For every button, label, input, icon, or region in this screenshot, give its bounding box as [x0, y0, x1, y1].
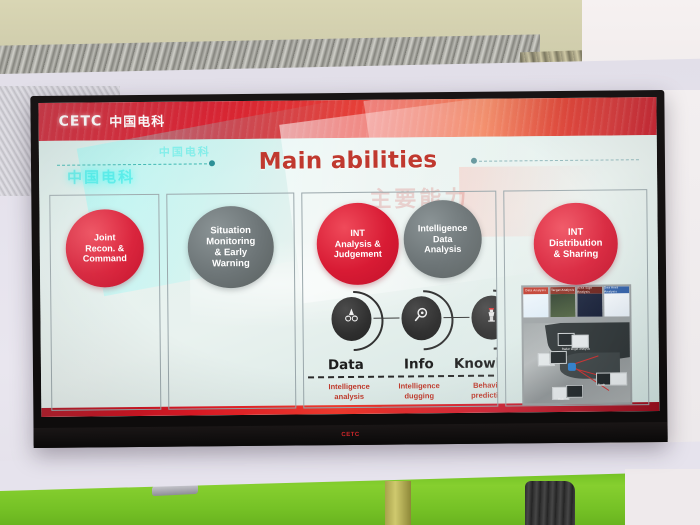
map-hub-node: [568, 362, 576, 370]
dashboard-card[interactable]: Data Analysis: [523, 287, 548, 317]
funnel-icon: [341, 306, 361, 331]
bubble-line: Intelligence: [418, 223, 468, 234]
knowledge-flow-diagram: [303, 285, 497, 357]
cetc-logo-en: CETC: [58, 113, 102, 129]
flow-connector-1: [373, 317, 399, 319]
slide-title: Main abilities: [39, 145, 657, 177]
floor-tire-object: [525, 481, 575, 525]
bubble-line: & Early: [206, 247, 255, 258]
dashboard-card[interactable]: Target Analysis: [550, 286, 575, 316]
bubble-line: Analysis: [418, 244, 468, 255]
bubble-line: Distribution: [549, 238, 602, 250]
sublabel-line: prediction: [458, 390, 498, 400]
dashboard-card[interactable]: Sea Area Analysis: [604, 286, 629, 316]
panel-int-analysis-bubbles: INT Analysis & Judgement Intelligence Da…: [302, 192, 496, 285]
slide-header-band: CETC 中国电科: [38, 97, 656, 141]
dashboard-card[interactable]: Area Sign Analysis: [577, 286, 602, 316]
monitor-screen: CETC 中国电科 中国电科 中国电科 主要能力 Main abilities: [38, 97, 659, 417]
bubble-line: & Sharing: [549, 249, 602, 261]
slide-body: 中国电科 中国电科 主要能力 Main abilities Joint Reco…: [39, 135, 660, 417]
bubble-line: Recon. &: [83, 243, 127, 254]
bubble-joint-recon-command[interactable]: Joint Recon. & Command: [65, 209, 144, 288]
bubble-situation-monitoring[interactable]: Situation Monitoring & Early Warning: [187, 206, 274, 289]
sublabel-line: Behavior: [458, 381, 498, 391]
map-callout: [566, 384, 583, 397]
bubble-int-distribution-sharing[interactable]: INT Distribution & Sharing: [533, 202, 618, 284]
header-sheen: [364, 97, 657, 141]
sublabel-line: dugging: [388, 391, 450, 401]
bubble-line: Judgement: [334, 249, 382, 260]
insight-figure-icon: [481, 305, 498, 330]
image-tactical-situation-map: ⊤⚲ ⚑ ⊤ ⊤⚙ ⚑⊕ ⚑⚑ ⚲⚑ ⚑⊕ ⊕⚑ ⚲ ⚑⚑ ⚑ ⚑⚑ ⚑: [231, 288, 232, 408]
flow-node-data[interactable]: [331, 296, 371, 340]
ability-panels: Joint Recon. & Command: [49, 189, 649, 411]
flow-label-data: Data: [328, 357, 364, 373]
flow-label-knowledge: Knowledge: [454, 355, 498, 372]
cetc-logo: CETC 中国电科: [58, 111, 165, 131]
bubble-int-analysis-judgement[interactable]: INT Analysis & Judgement: [316, 203, 399, 286]
magnifier-icon: [411, 305, 431, 330]
dashboard-card-body: [550, 293, 575, 316]
bubble-line: Joint: [83, 232, 127, 243]
map-label-main: Radar target analysis: [562, 346, 590, 350]
dashboard-thumbnail-row: Data Analysis Target Analysis Area Sign …: [521, 284, 632, 319]
map-label-hub: Hub: [558, 397, 564, 401]
sublabel-line: Intelligence: [318, 382, 380, 392]
flow-connector-2: [443, 316, 469, 318]
monitor-brand-logo: CETC: [341, 432, 359, 438]
flow-label-info: Info: [404, 356, 434, 372]
flow-labels: Data Info Knowledge: [304, 356, 497, 375]
image-satellite-earth-surveillance: [105, 287, 106, 397]
cetc-logo-cn: 中国电科: [109, 111, 165, 131]
map-callout: [550, 350, 567, 363]
sublabel-intelligence-analysis: Intelligence analysis: [318, 382, 380, 402]
map-water-3: [231, 370, 232, 405]
bubble-line: Data: [418, 234, 468, 245]
satellite-map: Radar target analysis Node Hub: [523, 322, 630, 403]
dashboard-card-body: [523, 294, 548, 317]
dashboard-card-body: [604, 293, 629, 316]
map-label-node: Node: [598, 382, 605, 386]
bubble-line: Command: [83, 253, 127, 264]
bubble-line: Monitoring: [206, 236, 255, 247]
floor-post: [385, 481, 411, 525]
bubble-line: Warning: [206, 258, 255, 269]
bubble-line: INT: [549, 227, 602, 239]
sublabel-behavior-prediction: Behavior prediction: [458, 381, 498, 401]
panel-int-distribution[interactable]: INT Distribution & Sharing Data Analysis: [503, 189, 649, 406]
flow-node-info[interactable]: [401, 296, 441, 340]
bubble-intelligence-data-analysis[interactable]: Intelligence Data Analysis: [403, 200, 482, 279]
sublabel-line: Intelligence: [388, 381, 450, 391]
display-monitor: CETC 中国电科 中国电科 中国电科 主要能力 Main abilities: [30, 90, 667, 448]
dashboard-card-body: [577, 293, 602, 316]
bubble-line: Analysis &: [334, 238, 382, 249]
panel-int-analysis[interactable]: INT Analysis & Judgement Intelligence Da…: [301, 191, 498, 409]
flow-sublabels: Intelligence analysis Intelligence duggi…: [304, 381, 497, 408]
flow-divider-dashed: [308, 375, 494, 379]
panel-situation-monitoring[interactable]: Situation Monitoring & Early Warning: [166, 193, 296, 410]
sublabel-line: analysis: [318, 392, 380, 402]
map-callout: [610, 372, 627, 385]
bubble-line: Situation: [206, 225, 255, 236]
panel-joint-recon-command[interactable]: Joint Recon. & Command: [49, 194, 161, 411]
earth-globe: [105, 344, 106, 397]
bubble-line: INT: [334, 228, 382, 239]
image-intel-dashboards: Data Analysis Target Analysis Area Sign …: [521, 284, 632, 405]
map-water-1: [231, 296, 232, 356]
sublabel-intelligence-dugging: Intelligence dugging: [388, 381, 450, 401]
floor-right-panel: [625, 469, 700, 525]
